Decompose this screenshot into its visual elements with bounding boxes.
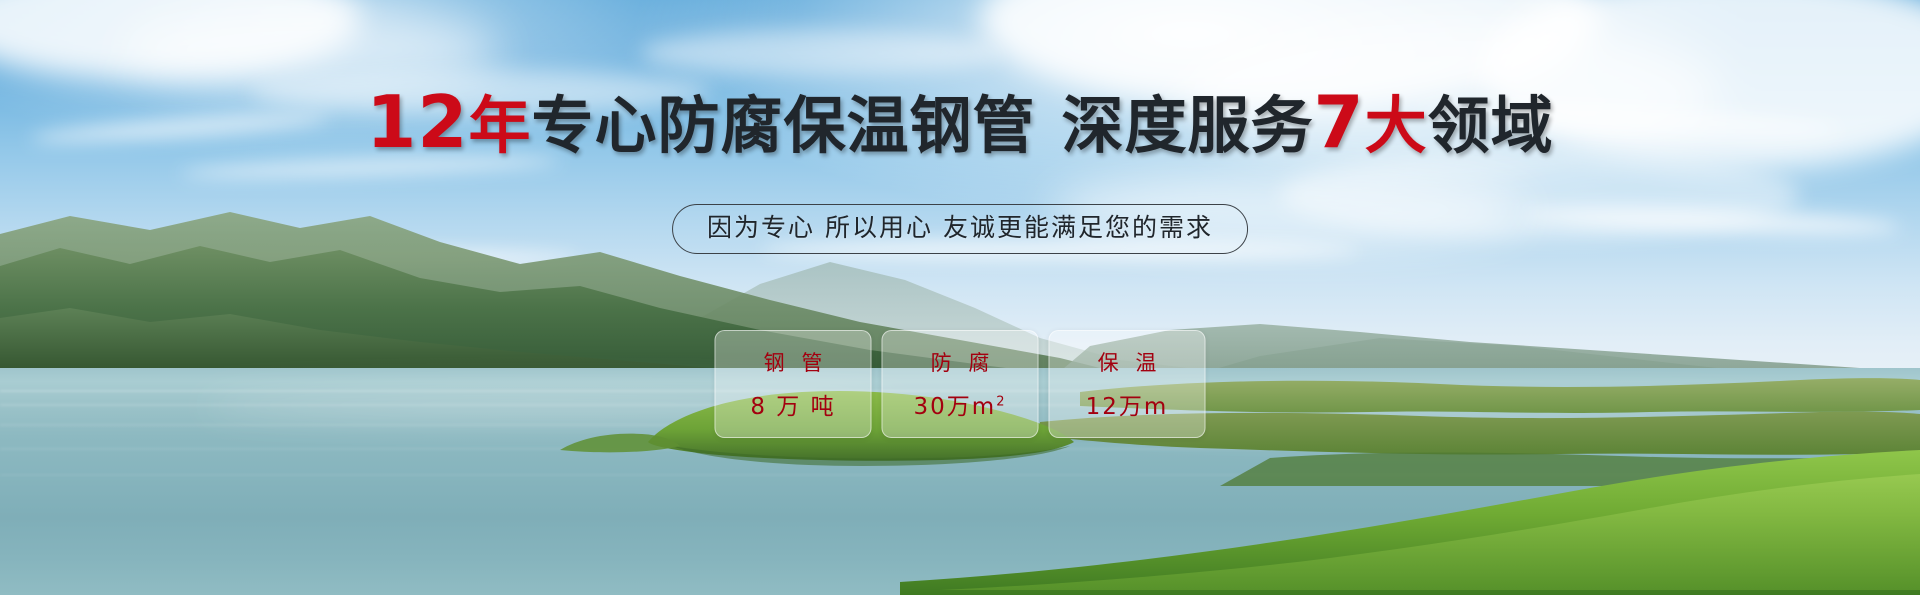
- stat-card-value-text: 12万m: [1086, 394, 1169, 420]
- stat-card-label: 钢 管: [759, 347, 828, 377]
- headline-fields-number: 7: [1314, 80, 1365, 164]
- stat-card-label: 保 温: [1093, 347, 1162, 377]
- headline-main-text: 专心防腐保温钢管: [532, 89, 1036, 162]
- stat-card-anticorrosion[interactable]: 防 腐 30万m2: [882, 330, 1039, 438]
- stat-card-steel-pipe[interactable]: 钢 管 8 万 吨: [715, 330, 872, 438]
- stat-card-value-text: 8 万 吨: [750, 394, 835, 420]
- headline-years-number: 12: [366, 80, 468, 164]
- stat-card-value: 8 万 吨: [750, 387, 835, 421]
- headline-fields-unit: 大: [1365, 89, 1428, 162]
- stat-card-value: 30万m2: [914, 387, 1007, 421]
- water-ripple: [0, 474, 1920, 476]
- stat-card-value-text: 30万m: [914, 394, 997, 420]
- stat-card-value-superscript: 2: [996, 394, 1006, 409]
- water-ripple: [0, 448, 1920, 450]
- page-title: 12年专心防腐保温钢管深度服务7大领域: [0, 86, 1920, 158]
- hero-banner: 12年专心防腐保温钢管深度服务7大领域 因为专心 所以用心 友诚更能满足您的需求…: [0, 0, 1920, 595]
- subtitle-pill: 因为专心 所以用心 友诚更能满足您的需求: [672, 204, 1248, 254]
- headline-years-unit: 年: [469, 89, 532, 162]
- headline-fields-text: 领域: [1428, 89, 1554, 162]
- stat-card-value: 12万m: [1086, 387, 1169, 421]
- stat-card-label: 防 腐: [926, 347, 995, 377]
- stat-card-insulation[interactable]: 保 温 12万m: [1049, 330, 1206, 438]
- headline-service-text: 深度服务: [1062, 89, 1314, 162]
- stat-card-group: 钢 管 8 万 吨 防 腐 30万m2 保 温 12万m: [715, 330, 1206, 438]
